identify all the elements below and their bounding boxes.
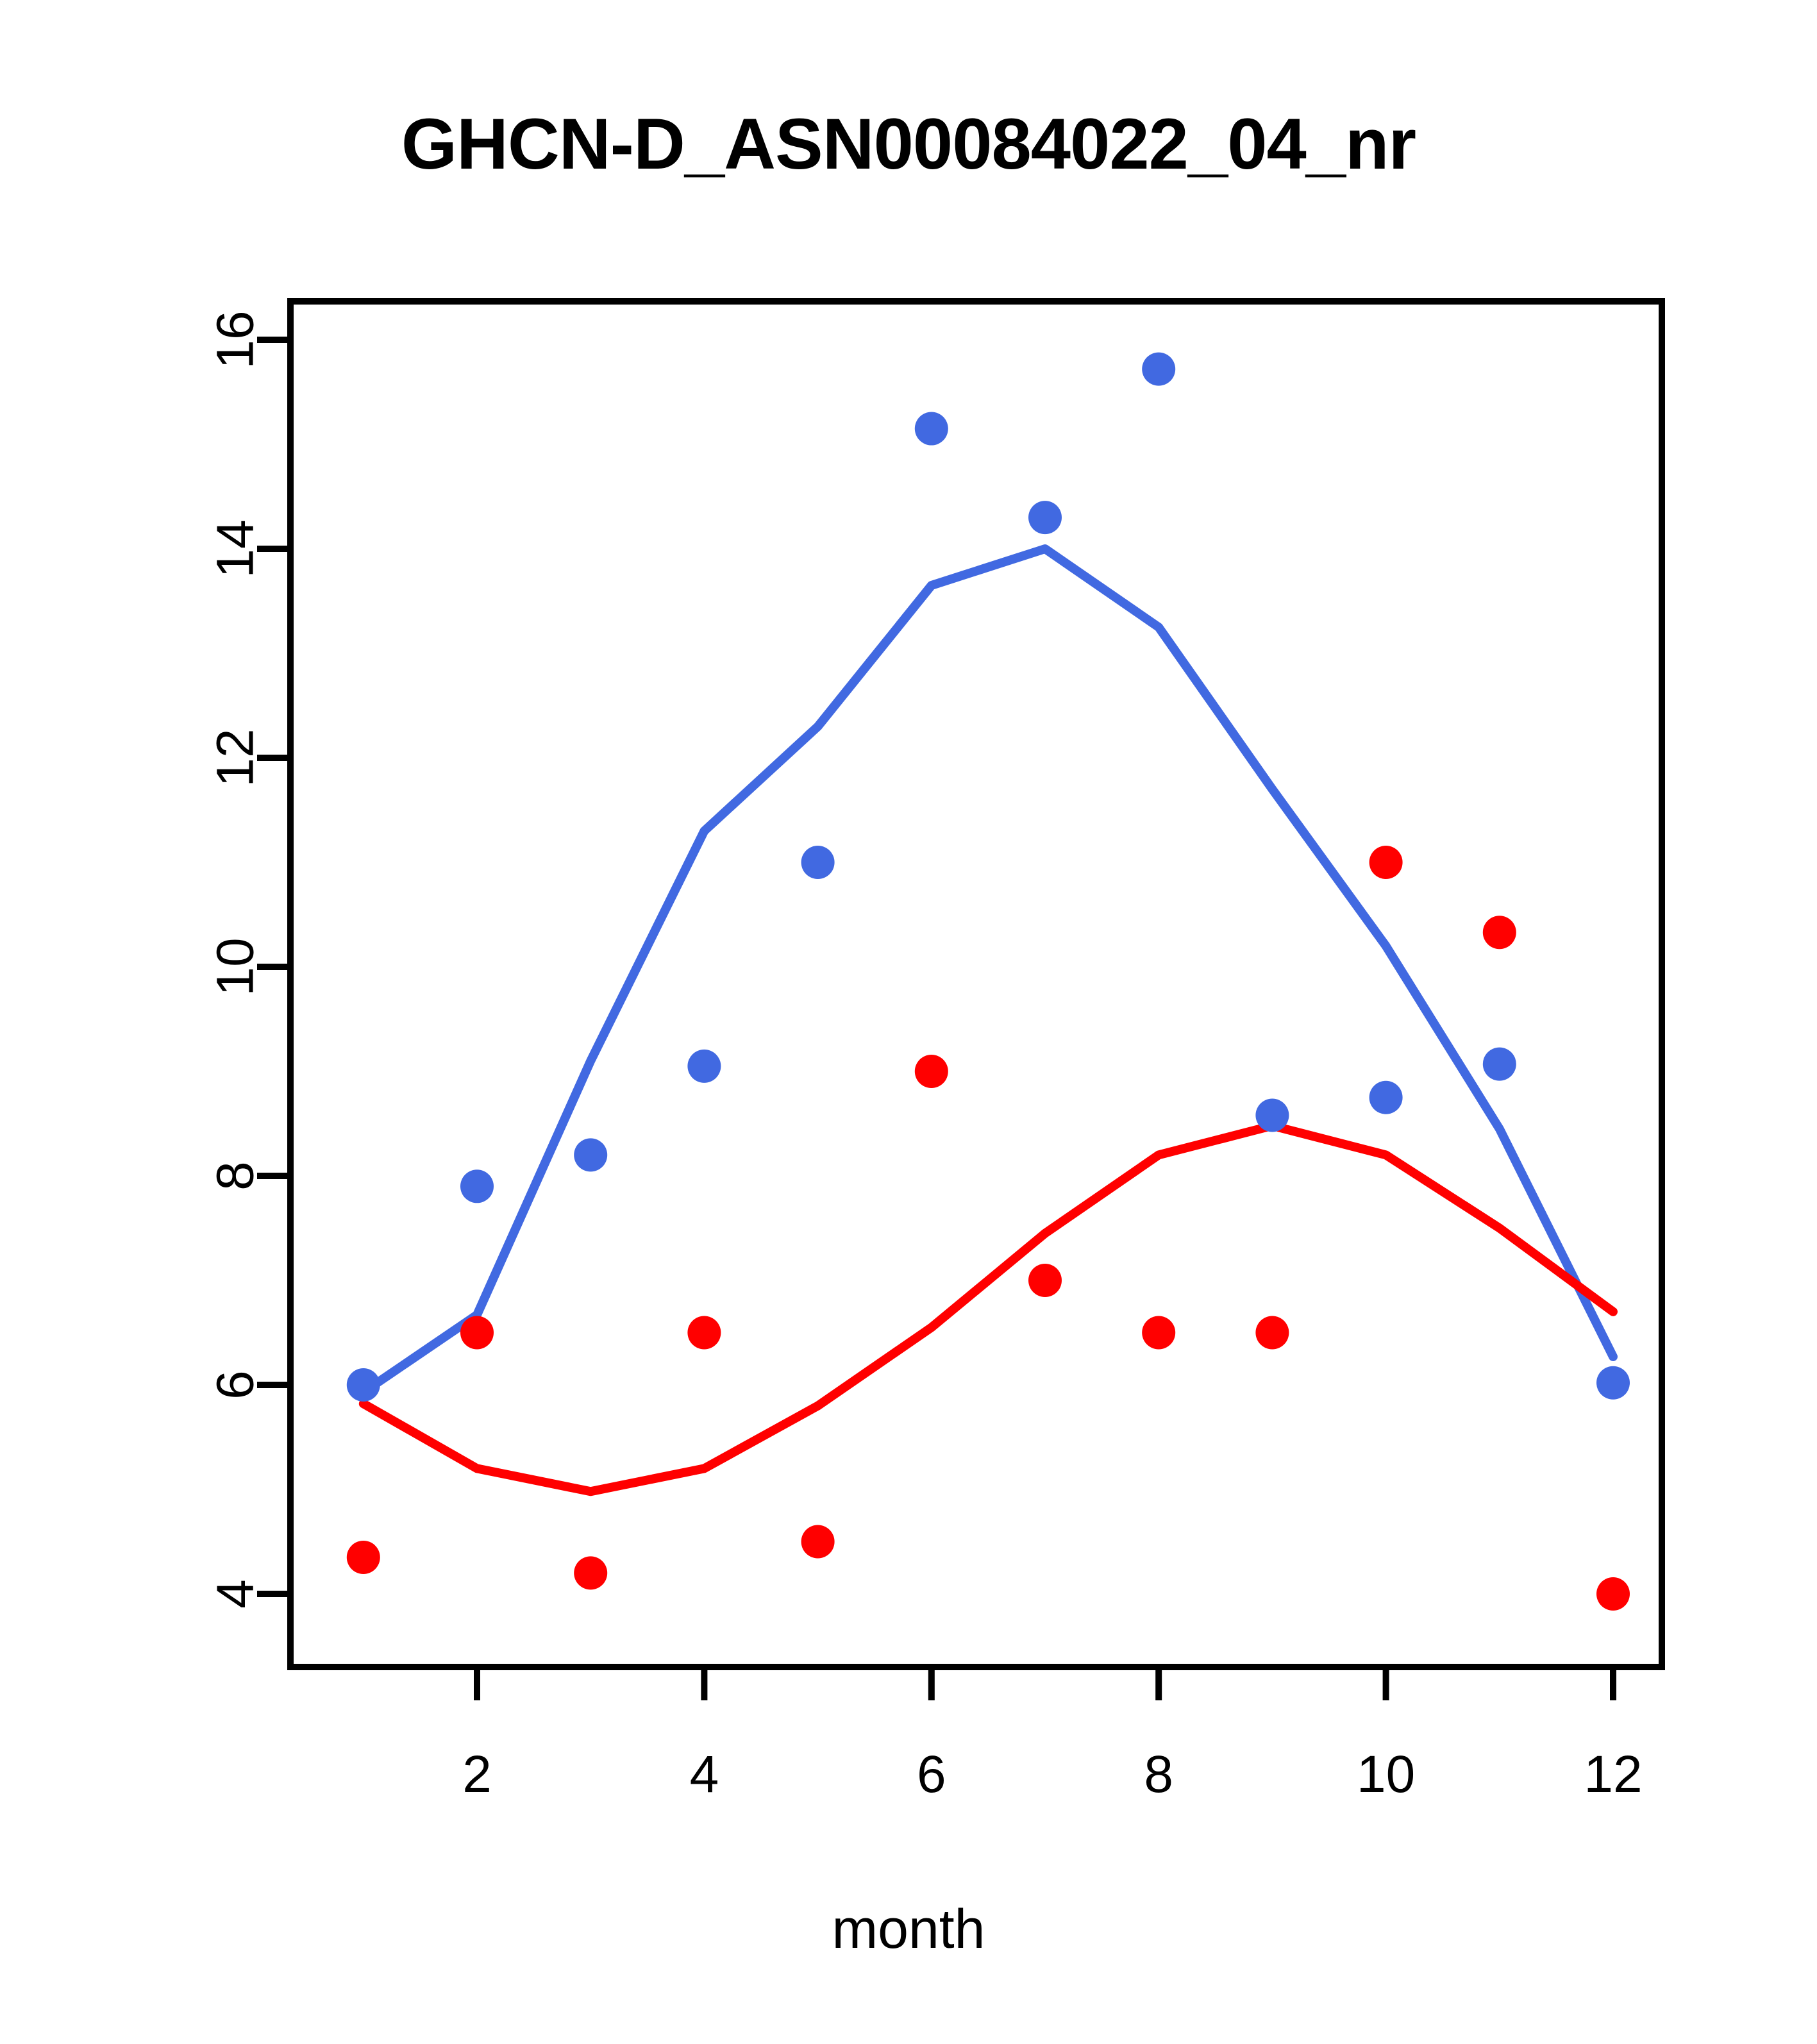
data-point-red-points [1142,1316,1175,1350]
data-point-blue-points [1028,501,1062,534]
data-point-blue-points [574,1138,607,1171]
data-point-blue-points [1142,353,1175,386]
data-point-red-points [347,1541,380,1574]
data-point-blue-points [687,1050,721,1083]
y-axis-tick-label: 10 [206,937,265,996]
x-axis-tick-label: 2 [462,1745,492,1804]
data-point-blue-points [801,846,835,879]
y-axis-tick-label: 4 [206,1579,265,1609]
data-point-red-points [915,1055,948,1088]
data-point-red-points [687,1316,721,1350]
data-point-red-points [801,1525,835,1559]
y-axis-tick-label: 14 [206,519,265,578]
y-axis-tick-label: 16 [206,310,265,369]
series-line-blue-smooth-line [364,549,1613,1392]
data-point-blue-points [1255,1098,1289,1132]
x-axis-tick-label: 12 [1584,1745,1642,1804]
y-axis-tick-label: 8 [206,1161,265,1191]
x-axis-tick-label: 8 [1144,1745,1173,1804]
x-axis-tick-label: 6 [917,1745,946,1804]
data-point-blue-points [1369,1081,1403,1114]
series-line-red-smooth-line [364,1126,1613,1492]
data-point-blue-points [1483,1048,1516,1081]
data-point-red-points [1596,1577,1630,1611]
x-axis-label: month [0,1898,1817,1961]
data-point-red-points [1255,1316,1289,1350]
data-point-blue-points [1596,1366,1630,1400]
chart-figure: GHCN-D_ASN00084022_04_nr 468101214162468… [0,0,1817,2044]
axis-layer [257,301,1662,1700]
plot-frame [290,301,1662,1667]
data-point-blue-points [460,1169,494,1203]
x-axis-tick-label: 10 [1357,1745,1415,1804]
plot-canvas: 4681012141624681012 [0,0,1817,2044]
data-point-blue-points [347,1368,380,1402]
series-layer [347,353,1630,1611]
data-point-red-points [460,1316,494,1350]
data-point-red-points [1483,916,1516,949]
data-point-red-points [1369,846,1403,879]
y-axis-tick-label: 6 [206,1370,265,1400]
data-point-red-points [1028,1264,1062,1297]
data-point-red-points [574,1556,607,1589]
data-point-blue-points [915,412,948,446]
y-axis-tick-label: 12 [206,728,265,787]
x-axis-tick-label: 4 [690,1745,719,1804]
